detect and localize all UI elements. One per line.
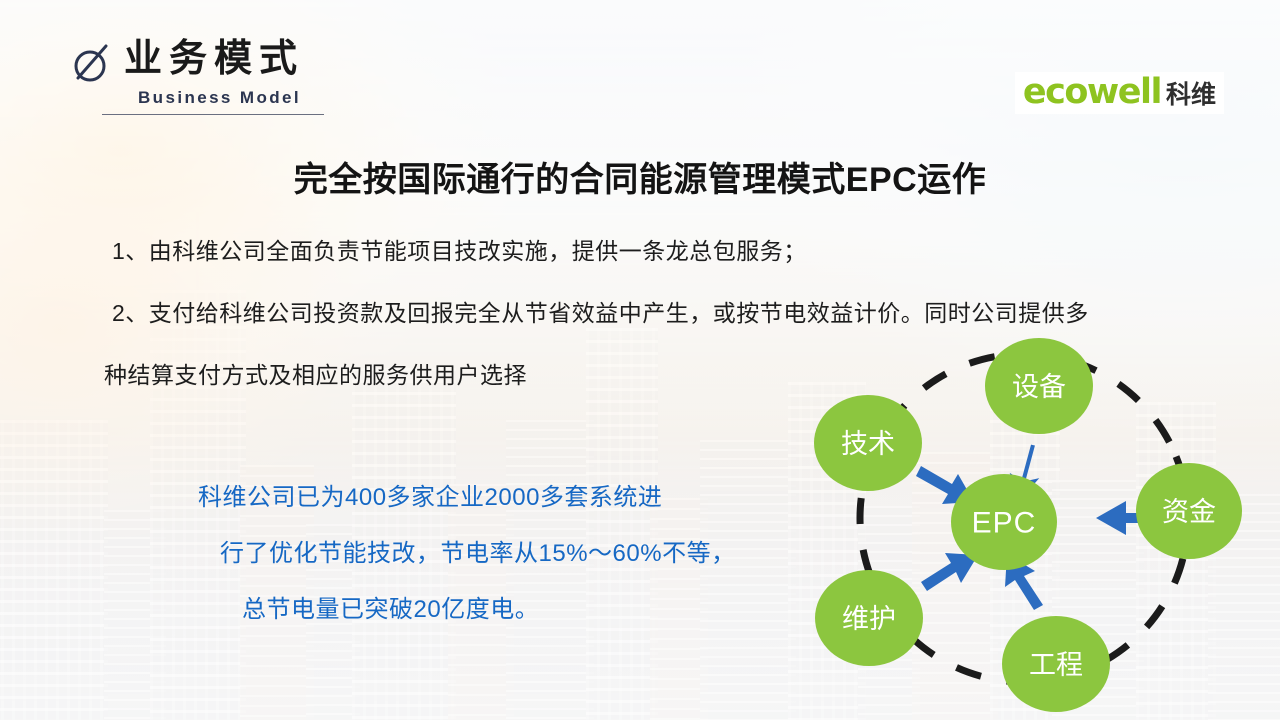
node-epc-center: EPC [951,474,1057,570]
slide-header: 业务模式 Business Model ecowell 科维 [0,0,1280,140]
title-underline [102,114,324,115]
brand-logo: ecowell 科维 [1015,72,1224,114]
node-maintenance-label: 维护 [842,604,896,634]
node-technology: 技术 [814,395,922,491]
node-technology-label: 技术 [841,429,895,459]
bullet-item-1: 1、由科维公司全面负责节能项目技改实施，提供一条龙总包服务； [112,234,807,268]
highlight-line-1: 科维公司已为400多家企业2000多套系统进 [198,484,662,511]
bullet-item-2-cont: 种结算支付方式及相应的服务供用户选择 [104,358,527,392]
node-equipment-label: 设备 [1012,372,1066,402]
highlight-line-2: 行了优化节能技改，节电率从15%～60%不等， [220,526,736,582]
highlight-text: 科维公司已为400多家企业2000多套系统进 行了优化节能技改，节电率从15%～… [198,470,736,638]
logo-chinese-name: 科维 [1166,83,1216,108]
node-capital-label: 资金 [1162,497,1216,527]
logo-wordmark: ecowell [1023,75,1161,110]
arrow-maintenance-to-epc [921,553,978,591]
headline: 完全按国际通行的合同能源管理模式EPC运作 [0,152,1280,201]
node-equipment: 设备 [985,338,1093,434]
bullet-item-2: 2、支付给科维公司投资款及回报完全从节省效益中产生，或按节电效益计价。同时公司提… [112,296,1089,330]
node-epc-label: EPC [972,507,1037,540]
epc-cycle-diagram: 设备 资金 工程 维护 技术 EPC [796,326,1266,720]
page-subtitle: Business Model [138,88,301,108]
page-title: 业务模式 [124,36,304,82]
slide-canvas: 业务模式 Business Model ecowell 科维 完全按国际通行的合… [0,0,1280,720]
highlight-line-3: 总节电量已突破20亿度电。 [242,582,736,638]
node-maintenance: 维护 [815,570,923,666]
node-capital: 资金 [1136,463,1242,559]
node-engineering-label: 工程 [1029,650,1083,680]
circle-slash-icon [70,38,114,86]
node-engineering: 工程 [1002,616,1110,712]
